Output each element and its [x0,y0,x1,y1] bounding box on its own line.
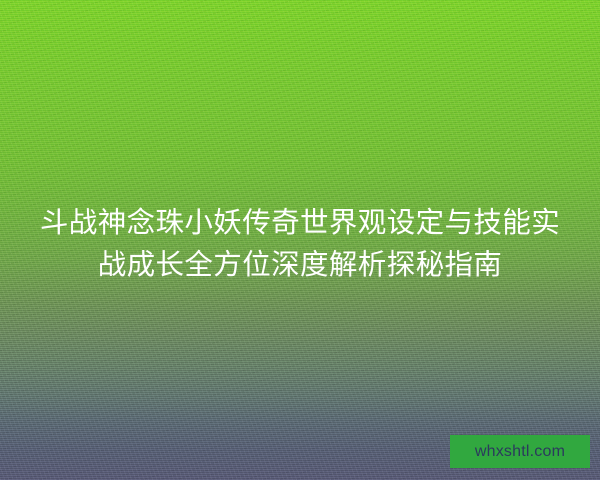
site-watermark-label: whxshtl.com [475,444,565,460]
banner-image: 斗战神念珠小妖传奇世界观设定与技能实 战成长全方位深度解析探秘指南 whxsht… [0,0,600,480]
banner-title: 斗战神念珠小妖传奇世界观设定与技能实 战成长全方位深度解析探秘指南 [0,202,600,286]
title-line-1: 斗战神念珠小妖传奇世界观设定与技能实 [18,202,582,244]
site-watermark-badge[interactable]: whxshtl.com [450,435,590,468]
title-line-2: 战成长全方位深度解析探秘指南 [18,244,582,286]
